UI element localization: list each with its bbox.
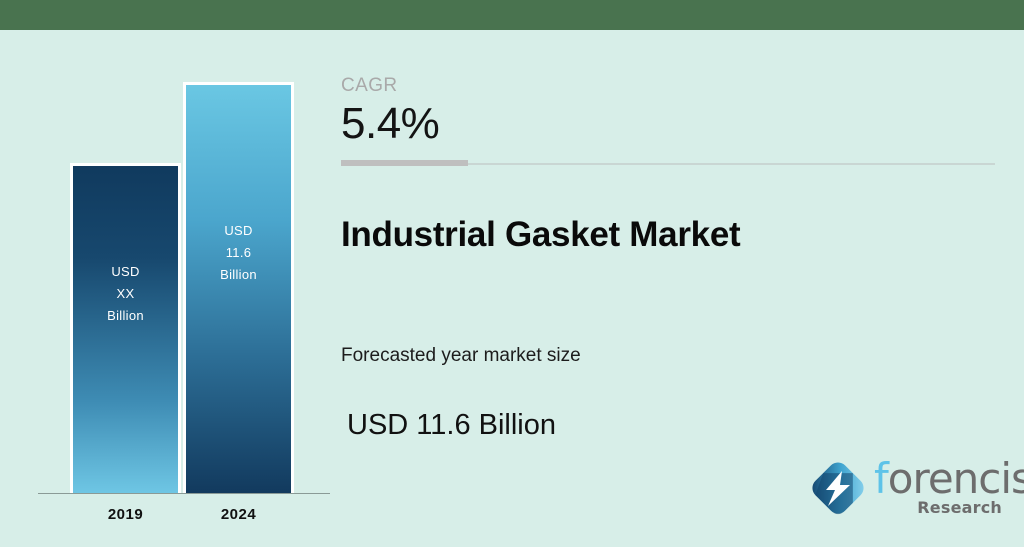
x-axis-tick-2024: 2024 xyxy=(183,506,294,523)
page-title: Industrial Gasket Market xyxy=(341,215,740,255)
logo-word-rest: orencis xyxy=(888,454,1024,503)
bar-2019: USD XX Billion xyxy=(70,163,181,493)
forecast-caption: Forecasted year market size xyxy=(341,345,581,367)
bar-2024-line2: 11.6 xyxy=(220,242,257,264)
bar-2024-line3: Billion xyxy=(220,264,257,286)
bar-2019-value-label: USD XX Billion xyxy=(107,261,144,327)
bar-2024: USD 11.6 Billion xyxy=(183,82,294,493)
logo-word-accent: f xyxy=(874,454,888,503)
bar-2019-line2: XX xyxy=(107,283,144,305)
x-axis-tick-2019: 2019 xyxy=(70,506,181,523)
forencis-diamond-icon xyxy=(806,456,870,520)
forencis-research-logo: forencis Research xyxy=(806,450,1006,530)
cagr-progress-bar xyxy=(341,160,995,166)
cagr-value: 5.4% xyxy=(341,98,439,150)
logo-subtitle: Research xyxy=(917,498,1002,517)
x-axis-line xyxy=(38,493,330,494)
cagr-label: CAGR xyxy=(341,75,398,97)
logo-wordmark: forencis Research xyxy=(874,454,1004,524)
progress-fill xyxy=(341,160,468,166)
info-panel: CAGR 5.4% Industrial Gasket Market Forec… xyxy=(341,30,1024,547)
bar-2024-line1: USD xyxy=(220,220,257,242)
forecast-value: USD 11.6 Billion xyxy=(347,409,556,442)
bar-chart: USD XX Billion USD 11.6 Billion 2019 202… xyxy=(0,30,335,547)
bar-2024-value-label: USD 11.6 Billion xyxy=(220,220,257,286)
infographic-canvas: USD XX Billion USD 11.6 Billion 2019 202… xyxy=(0,30,1024,547)
bar-2019-line3: Billion xyxy=(107,305,144,327)
logo-word: forencis xyxy=(874,454,1024,504)
bar-2019-line1: USD xyxy=(107,261,144,283)
top-accent-band xyxy=(0,0,1024,30)
